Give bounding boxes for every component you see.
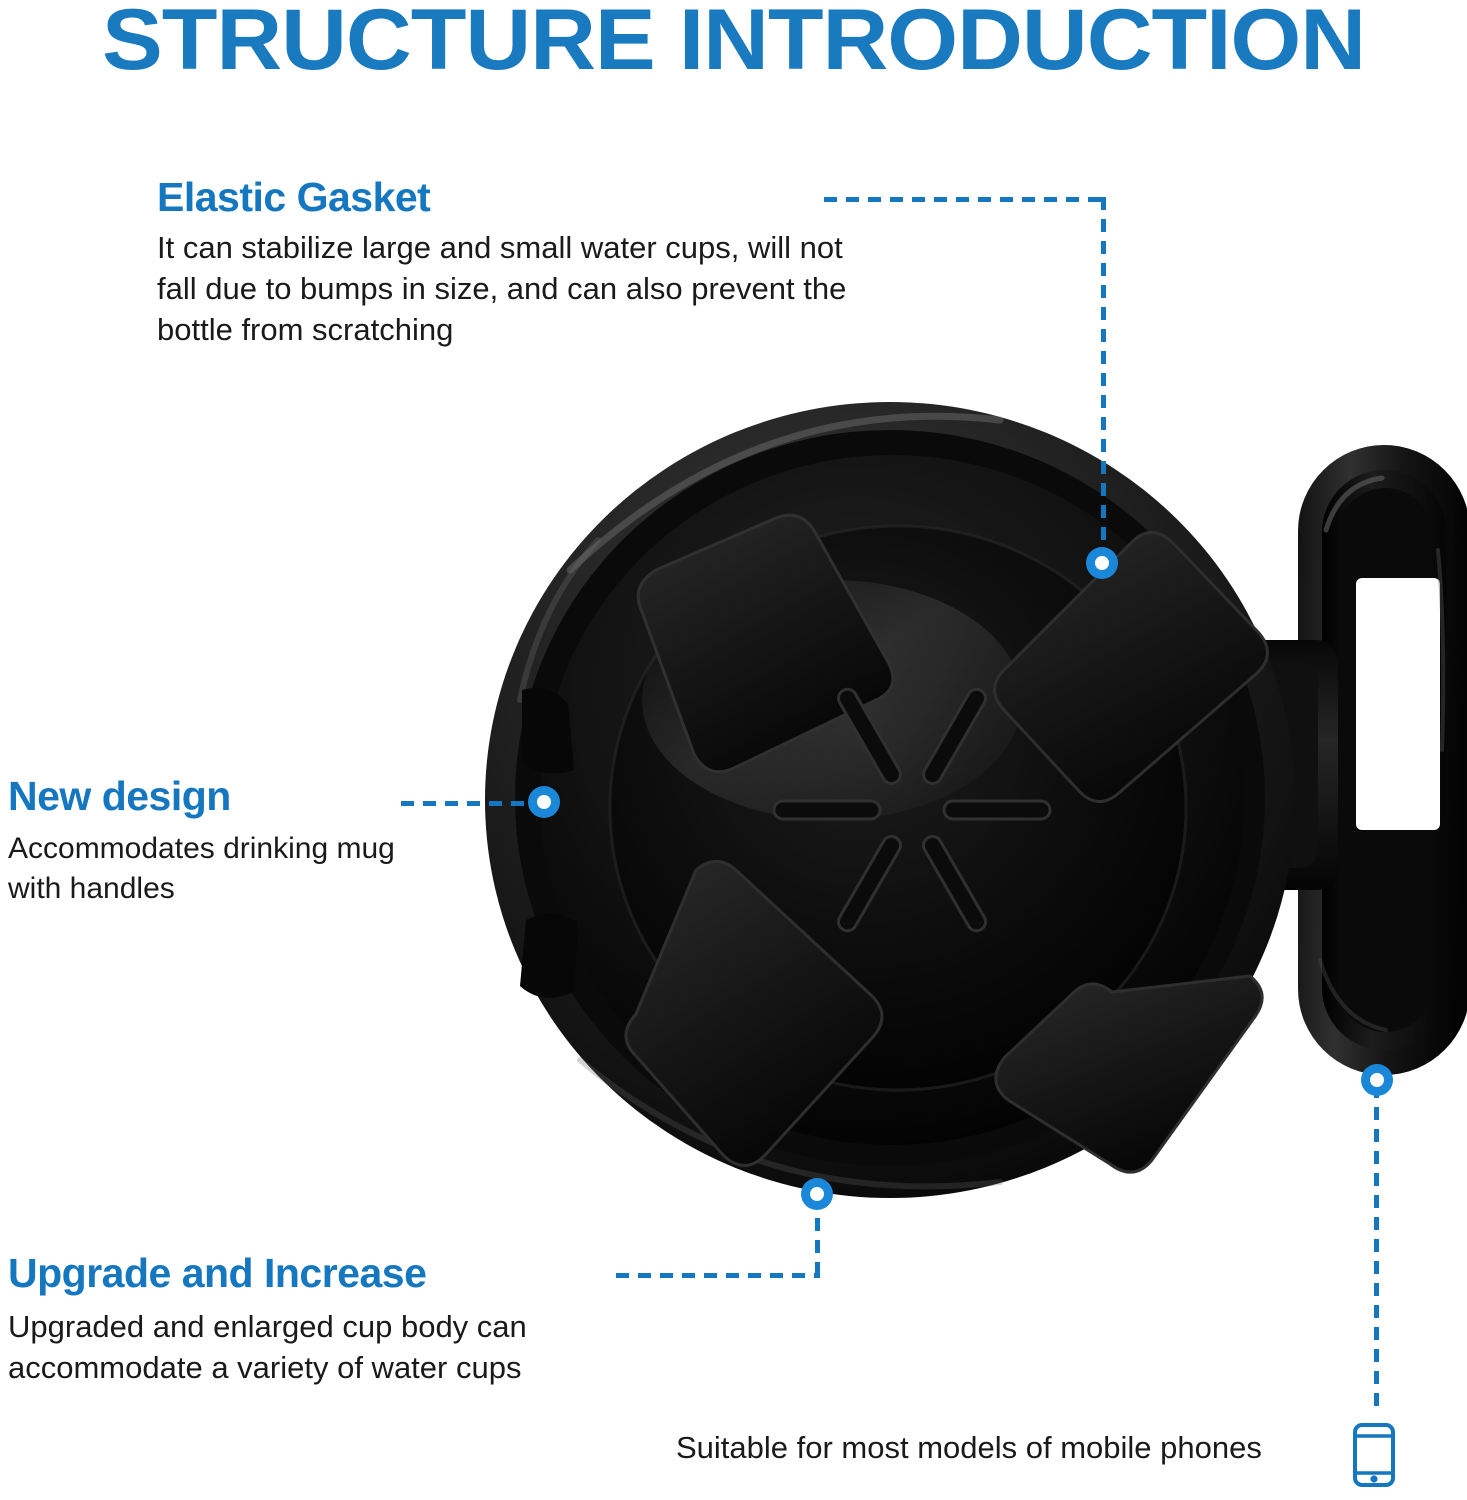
product-illustration <box>460 400 1467 1230</box>
mobile-phone-icon-glyph <box>1352 1422 1396 1488</box>
infographic-page: STRUCTURE INTRODUCTION <box>0 0 1467 1500</box>
page-title: STRUCTURE INTRODUCTION <box>0 0 1467 87</box>
callout-heading-elastic-gasket: Elastic Gasket <box>157 176 847 219</box>
footer-note-mobile-phones: Suitable for most models of mobile phone… <box>676 1432 1262 1463</box>
callout-heading-new-design: New design <box>8 775 408 818</box>
marker-phone-clip <box>1361 1064 1393 1096</box>
leader-line-elastic-gasket-vertical <box>1101 197 1106 565</box>
callout-upgrade-and-increase: Upgrade and Increase Upgraded and enlarg… <box>8 1252 648 1389</box>
leader-line-phone-clip <box>1374 1085 1379 1411</box>
callout-body-upgrade-and-increase: Upgraded and enlarged cup body can accom… <box>8 1295 648 1389</box>
callout-elastic-gasket: Elastic Gasket It can stabilize large an… <box>157 176 847 351</box>
leader-line-new-design <box>401 801 547 806</box>
callout-body-new-design: Accommodates drinking mug with handles <box>8 818 408 909</box>
mobile-phone-icon <box>1352 1422 1396 1488</box>
marker-new-design <box>528 786 560 818</box>
marker-upgrade-and-increase <box>801 1178 833 1210</box>
callout-heading-upgrade-and-increase: Upgrade and Increase <box>8 1252 648 1295</box>
leader-line-elastic-gasket-horizontal <box>824 197 1106 202</box>
marker-elastic-gasket <box>1086 547 1118 579</box>
callout-new-design: New design Accommodates drinking mug wit… <box>8 775 408 909</box>
product-image-cup-holder <box>460 400 1467 1230</box>
callout-body-elastic-gasket: It can stabilize large and small water c… <box>157 219 847 351</box>
